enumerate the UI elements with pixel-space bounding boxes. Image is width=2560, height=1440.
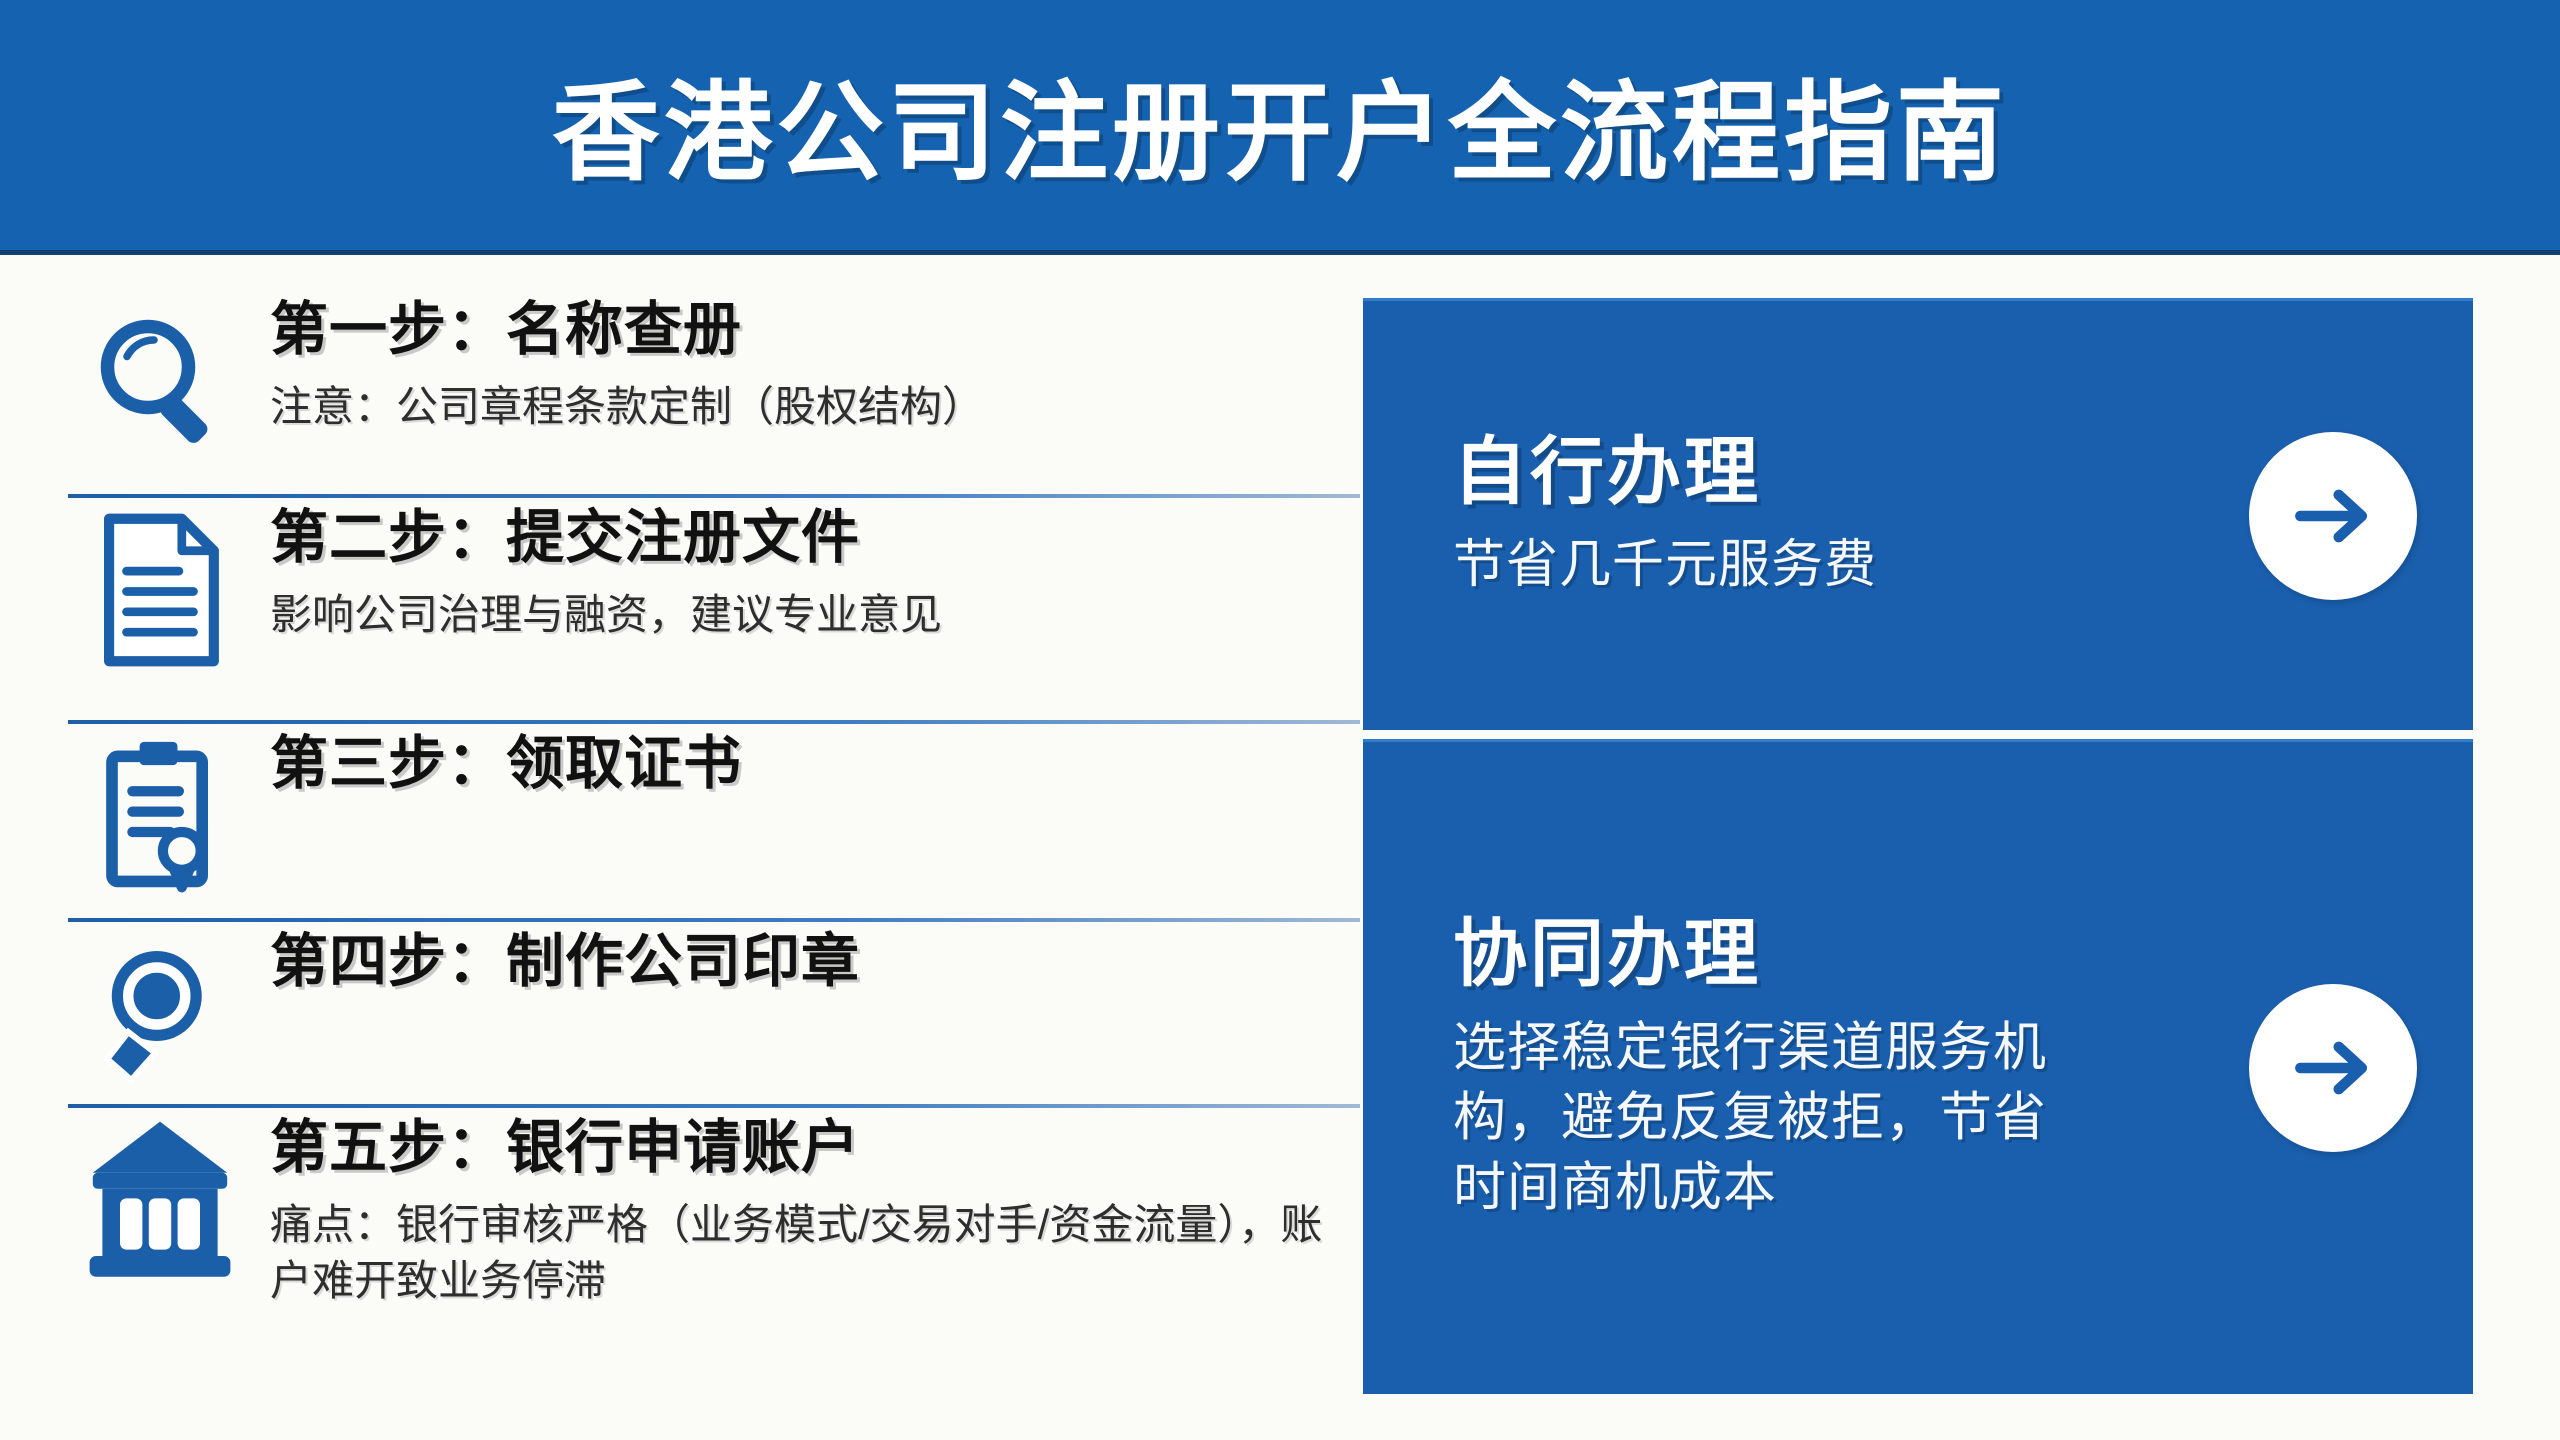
step-text: 第五步：银行申请账户 痛点：银行审核严格（业务模式/交易对手/资金流量），账户难… bbox=[260, 1110, 1330, 1309]
promo-subtitle: 节省几千元服务费 bbox=[1453, 531, 2093, 600]
step-divider bbox=[68, 918, 1360, 922]
header-underline bbox=[0, 250, 2560, 255]
step-title: 第四步：制作公司印章 bbox=[270, 930, 860, 995]
step-title: 第三步：领取证书 bbox=[270, 732, 742, 797]
arrow-right-icon[interactable] bbox=[2249, 432, 2417, 600]
step-text: 第四步：制作公司印章 bbox=[260, 924, 860, 995]
promo-body: 自行办理 节省几千元服务费 bbox=[1453, 431, 2225, 599]
bank-icon bbox=[60, 1110, 260, 1290]
step-text: 第一步：名称查册 注意：公司章程条款定制（股权结构） bbox=[260, 292, 984, 435]
step-text: 第二步：提交注册文件 影响公司治理与融资，建议专业意见 bbox=[260, 500, 942, 643]
step-divider bbox=[68, 720, 1360, 724]
step-row: 第一步：名称查册 注意：公司章程条款定制（股权结构） bbox=[60, 292, 1360, 492]
promo-card-assisted-service[interactable]: 协同办理 选择稳定银行渠道服务机构，避免反复被拒，节省时间商机成本 bbox=[1363, 739, 2473, 1394]
arrow-right-icon[interactable] bbox=[2249, 984, 2417, 1152]
page-title: 香港公司注册开户全流程指南 bbox=[552, 79, 2008, 187]
step-divider bbox=[68, 494, 1360, 498]
step-title: 第二步：提交注册文件 bbox=[270, 506, 942, 571]
promo-title: 协同办理 bbox=[1453, 913, 2225, 994]
step-title: 第一步：名称查册 bbox=[270, 298, 984, 363]
step-divider bbox=[68, 1104, 1360, 1108]
step-row: 第四步：制作公司印章 bbox=[60, 924, 1360, 1102]
infographic-poster: 香港公司注册开户全流程指南 第一步：名称查册 注意：公司章程条款定制（股权结构） bbox=[0, 0, 2560, 1440]
document-icon bbox=[60, 500, 260, 680]
promo-subtitle: 选择稳定银行渠道服务机构，避免反复被拒，节省时间商机成本 bbox=[1453, 1013, 2093, 1223]
promo-body: 协同办理 选择稳定银行渠道服务机构，避免反复被拒，节省时间商机成本 bbox=[1453, 913, 2225, 1222]
promo-title: 自行办理 bbox=[1453, 431, 2225, 512]
promo-card-self-service[interactable]: 自行办理 节省几千元服务费 bbox=[1363, 298, 2473, 730]
step-title: 第五步：银行申请账户 bbox=[270, 1116, 1330, 1181]
magnifier-icon bbox=[60, 292, 260, 472]
step-row: 第二步：提交注册文件 影响公司治理与融资，建议专业意见 bbox=[60, 500, 1360, 718]
step-note: 影响公司治理与融资，建议专业意见 bbox=[270, 587, 942, 643]
step-text: 第三步：领取证书 bbox=[260, 726, 742, 797]
stamp-icon bbox=[60, 924, 260, 1104]
steps-column: 第一步：名称查册 注意：公司章程条款定制（股权结构） bbox=[60, 282, 1360, 1402]
header-band: 香港公司注册开户全流程指南 bbox=[0, 0, 2560, 250]
step-note: 痛点：银行审核严格（业务模式/交易对手/资金流量），账户难开致业务停滞 bbox=[270, 1197, 1330, 1310]
certificate-clipboard-icon bbox=[60, 726, 260, 906]
promo-column: 自行办理 节省几千元服务费 协同办理 选择稳定银行渠道服务机构，避免反复被拒，节… bbox=[1363, 298, 2473, 1394]
step-note: 注意：公司章程条款定制（股权结构） bbox=[270, 379, 984, 435]
step-row: 第五步：银行申请账户 痛点：银行审核严格（业务模式/交易对手/资金流量），账户难… bbox=[60, 1110, 1360, 1380]
step-row: 第三步：领取证书 bbox=[60, 726, 1360, 916]
